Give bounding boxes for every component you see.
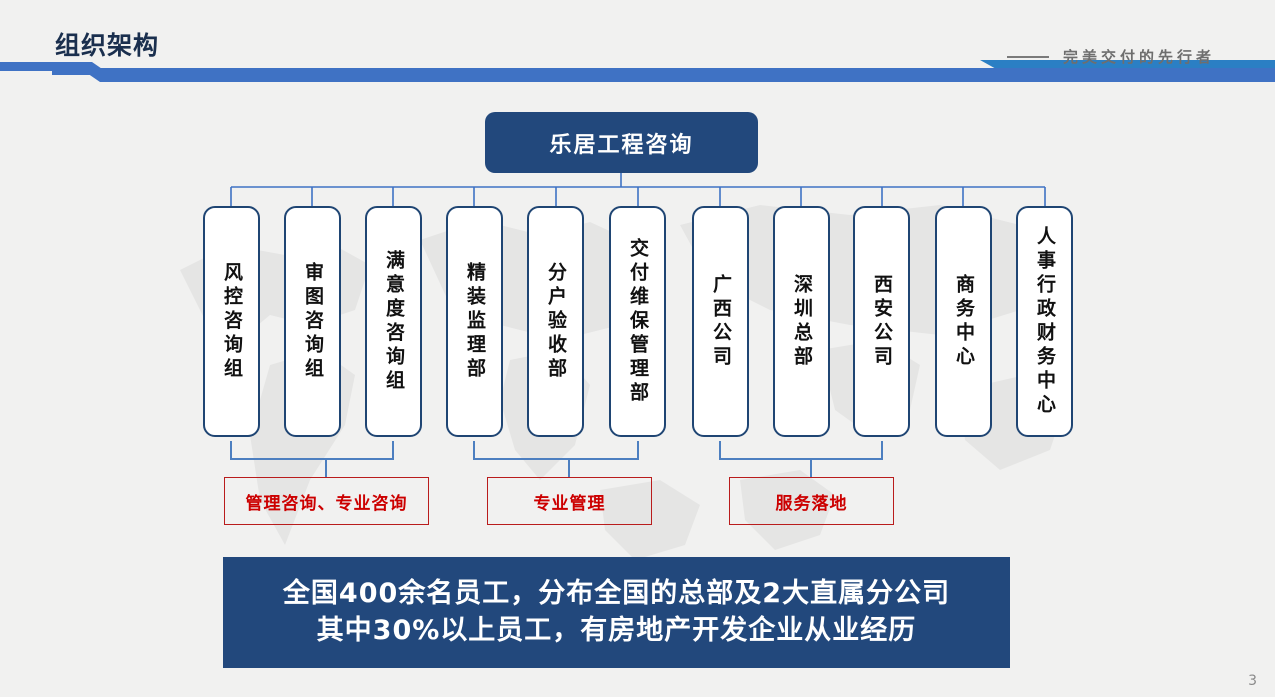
dept-box-delivery-maintenance[interactable]: 交付维保管理部 <box>609 206 666 437</box>
page-header: 组织架构 完美交付的先行者 <box>0 0 1275 95</box>
dept-box-unit-acceptance[interactable]: 分户验收部 <box>527 206 584 437</box>
dept-box-risk-control[interactable]: 风控咨询组 <box>203 206 260 437</box>
dept-box-drawing-review[interactable]: 审图咨询组 <box>284 206 341 437</box>
dept-label: 广西公司 <box>711 274 730 370</box>
dept-box-satisfaction[interactable]: 满意度咨询组 <box>365 206 422 437</box>
category-label: 管理咨询、专业咨询 <box>246 489 408 514</box>
category-label: 服务落地 <box>776 489 848 514</box>
dept-box-business-center[interactable]: 商务中心 <box>935 206 992 437</box>
banner-line-2: 其中30%以上员工，有房地产开发企业从业经历 <box>317 613 917 649</box>
category-label: 专业管理 <box>534 489 606 514</box>
dept-label: 精装监理部 <box>465 262 484 382</box>
dept-label: 深圳总部 <box>792 274 811 370</box>
category-box-management-consulting[interactable]: 管理咨询、专业咨询 <box>224 477 429 525</box>
dept-label: 人事行政财务中心 <box>1035 226 1054 418</box>
dept-label: 西安公司 <box>872 274 891 370</box>
category-box-professional-management[interactable]: 专业管理 <box>487 477 652 525</box>
dept-label: 商务中心 <box>954 274 973 370</box>
banner-line-1: 全国400余名员工，分布全国的总部及2大直属分公司 <box>283 576 950 612</box>
dept-label: 分户验收部 <box>546 262 565 382</box>
tagline: 完美交付的先行者 <box>1007 46 1215 67</box>
summary-banner: 全国400余名员工，分布全国的总部及2大直属分公司 其中30%以上员工，有房地产… <box>223 557 1010 668</box>
dept-label: 审图咨询组 <box>303 262 322 382</box>
title-underline <box>52 68 1275 75</box>
dept-label: 风控咨询组 <box>222 262 241 382</box>
category-box-service-implementation[interactable]: 服务落地 <box>729 477 894 525</box>
dept-box-fine-decoration-supervision[interactable]: 精装监理部 <box>446 206 503 437</box>
tagline-dash-icon <box>1007 56 1049 58</box>
org-root-node[interactable]: 乐居工程咨询 <box>485 112 758 173</box>
page-title: 组织架构 <box>55 26 159 62</box>
dept-box-guangxi-company[interactable]: 广西公司 <box>692 206 749 437</box>
dept-box-xian-company[interactable]: 西安公司 <box>853 206 910 437</box>
dept-box-hr-admin-finance-center[interactable]: 人事行政财务中心 <box>1016 206 1073 437</box>
tagline-text: 完美交付的先行者 <box>1063 46 1215 67</box>
dept-label: 交付维保管理部 <box>628 238 647 406</box>
org-root-label: 乐居工程咨询 <box>549 127 693 159</box>
dept-label: 满意度咨询组 <box>384 250 403 394</box>
page-number: 3 <box>1248 673 1257 689</box>
dept-box-shenzhen-headquarters[interactable]: 深圳总部 <box>773 206 830 437</box>
